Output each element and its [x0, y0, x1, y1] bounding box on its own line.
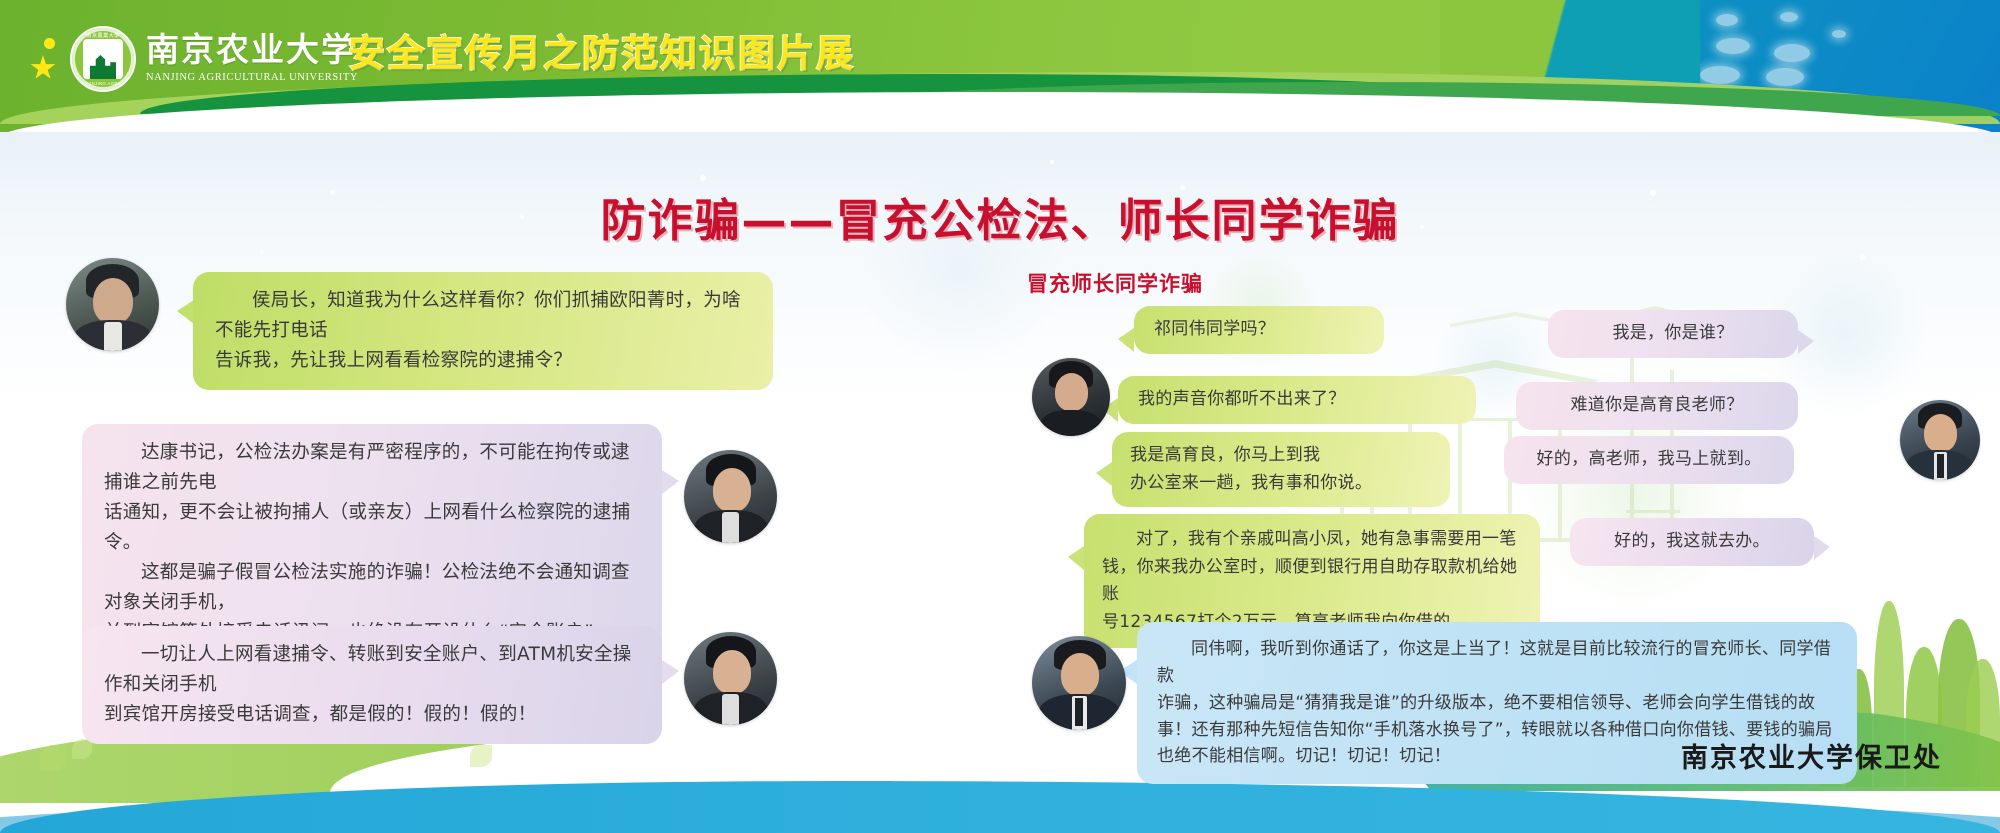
avatar-hou-2 — [684, 632, 777, 725]
seal-ring-cn-text: 南京農業大學 — [86, 32, 120, 39]
yellow-dot-decoration — [44, 38, 55, 49]
bubble-a3: 好的，高老师，我马上就到。 — [1504, 436, 1794, 484]
footer-organization: 南京农业大学保卫处 — [1681, 736, 1942, 775]
page-title: 防诈骗——冒充公检法、师长同学诈骗 — [0, 184, 2000, 249]
bubble-tail-1 — [177, 300, 194, 324]
seal-ring-en-text: NANJING AGRI. — [85, 81, 121, 86]
bubble-line: 对了，我有个亲戚叫高小凤，她有急事需要用一笔 — [1102, 526, 1522, 554]
bubble-q3: 我是高育良，你马上到我 办公室来一趟，我有事和你说。 — [1112, 432, 1450, 507]
avatar-hou-1 — [684, 450, 777, 543]
bubble-line: 诈骗，这种骗局是“猜猜我是谁”的升级版本，绝不要相信领导、老师会向学生借钱的故 — [1157, 690, 1837, 717]
bubble-tail-q4 — [1068, 546, 1084, 570]
bubble-q1: 祁同伟同学吗？ — [1134, 306, 1384, 354]
bubble-line: 侯局长，知道我为什么这样看你？你们抓捕欧阳菁时，为啥不能先打电话 — [215, 286, 751, 346]
bubble-line: 难道你是高育良老师？ — [1536, 392, 1778, 420]
avatar-police — [1032, 636, 1126, 730]
bubble-hou-conclusion: 一切让人上网看逮捕令、转账到安全账户、到ATM机安全操作和关闭手机 到宾馆开房接… — [82, 626, 662, 744]
university-name-block: 南京农业大学 NANJING AGRICULTURAL UNIVERSITY — [146, 35, 358, 83]
bubble-line: 我的声音你都听不出来了？ — [1138, 386, 1456, 414]
university-logo: 南京農業大學 1902 NANJING AGRI. 南京农业大学 NANJING… — [70, 26, 358, 92]
bubble-tail-2 — [662, 470, 679, 494]
bubble-line: 这都是骗子假冒公检法实施的诈骗！公检法绝不会通知调查对象关闭手机， — [104, 558, 640, 618]
bubble-line: 我是高育良，你马上到我 — [1130, 442, 1432, 470]
bubble-a2: 难道你是高育良老师？ — [1516, 382, 1798, 430]
poster-root: 南京農業大學 1902 NANJING AGRI. 南京农业大学 NANJING… — [0, 0, 2000, 833]
bubble-line: 一切让人上网看逮捕令、转账到安全账户、到ATM机安全操作和关闭手机 — [104, 640, 640, 700]
bubble-line: 好的，我这就去办。 — [1588, 528, 1796, 556]
bubble-tail-3 — [662, 660, 679, 684]
bubble-tail-a1 — [1798, 330, 1814, 354]
header-banner: 南京農業大學 1902 NANJING AGRI. 南京农业大学 NANJING… — [0, 0, 2000, 132]
bubble-line: 告诉我，先让我上网看看检察院的逮捕令？ — [215, 346, 751, 376]
avatar-dakang — [66, 258, 159, 351]
avatar-gao — [1900, 400, 1980, 480]
bubble-a1: 我是，你是谁？ — [1548, 310, 1798, 358]
university-name-cn: 南京农业大学 — [146, 35, 358, 68]
leaf-decoration — [40, 745, 66, 771]
banner-title: 安全宣传月之防范知识图片展 — [348, 35, 855, 72]
bubble-line: 办公室来一趟，我有事和你说。 — [1130, 470, 1432, 498]
university-seal-icon: 南京農業大學 1902 NANJING AGRI. — [70, 26, 136, 92]
seal-emblem: 1902 — [83, 39, 123, 79]
bubble-line: 钱，你来我办公室时，顺便到银行用自助存取款机给她账 — [1102, 554, 1522, 609]
leaf-decoration — [72, 739, 92, 759]
bubble-line: 到宾馆开房接受电话调查，都是假的！假的！假的！ — [104, 700, 640, 730]
leaf-decoration — [470, 745, 492, 767]
bubble-tail-a4 — [1814, 536, 1830, 560]
bubble-line: 达康书记，公检法办案是有严密程序的，不可能在拘传或逮捕谁之前先电 — [104, 438, 640, 498]
seal-year: 1902 — [96, 73, 109, 79]
bubble-line: 同伟啊，我听到你通话了，你这是上当了！这就是目前比较流行的冒充师长、同学借款 — [1157, 636, 1837, 690]
bubble-line: 话通知，更不会让被拘捕人（或亲友）上网看什么检察院的逮捕令。 — [104, 498, 640, 558]
bubble-a4: 好的，我这就去办。 — [1570, 518, 1814, 566]
bubble-line: 祁同伟同学吗？ — [1154, 316, 1364, 344]
bubble-tail-q1 — [1118, 328, 1134, 352]
avatar-qi — [1032, 358, 1110, 436]
section-title: 冒充师长同学诈骗 — [1027, 268, 1203, 298]
bubble-line: 我是，你是谁？ — [1568, 320, 1778, 348]
university-name-en: NANJING AGRICULTURAL UNIVERSITY — [146, 72, 358, 83]
bubble-q2: 我的声音你都听不出来了？ — [1118, 376, 1476, 424]
bubble-hou-question: 侯局长，知道我为什么这样看你？你们抓捕欧阳菁时，为啥不能先打电话 告诉我，先让我… — [193, 272, 773, 390]
bubble-tail-q3 — [1096, 462, 1112, 486]
bubble-line: 好的，高老师，我马上就到。 — [1522, 446, 1776, 474]
